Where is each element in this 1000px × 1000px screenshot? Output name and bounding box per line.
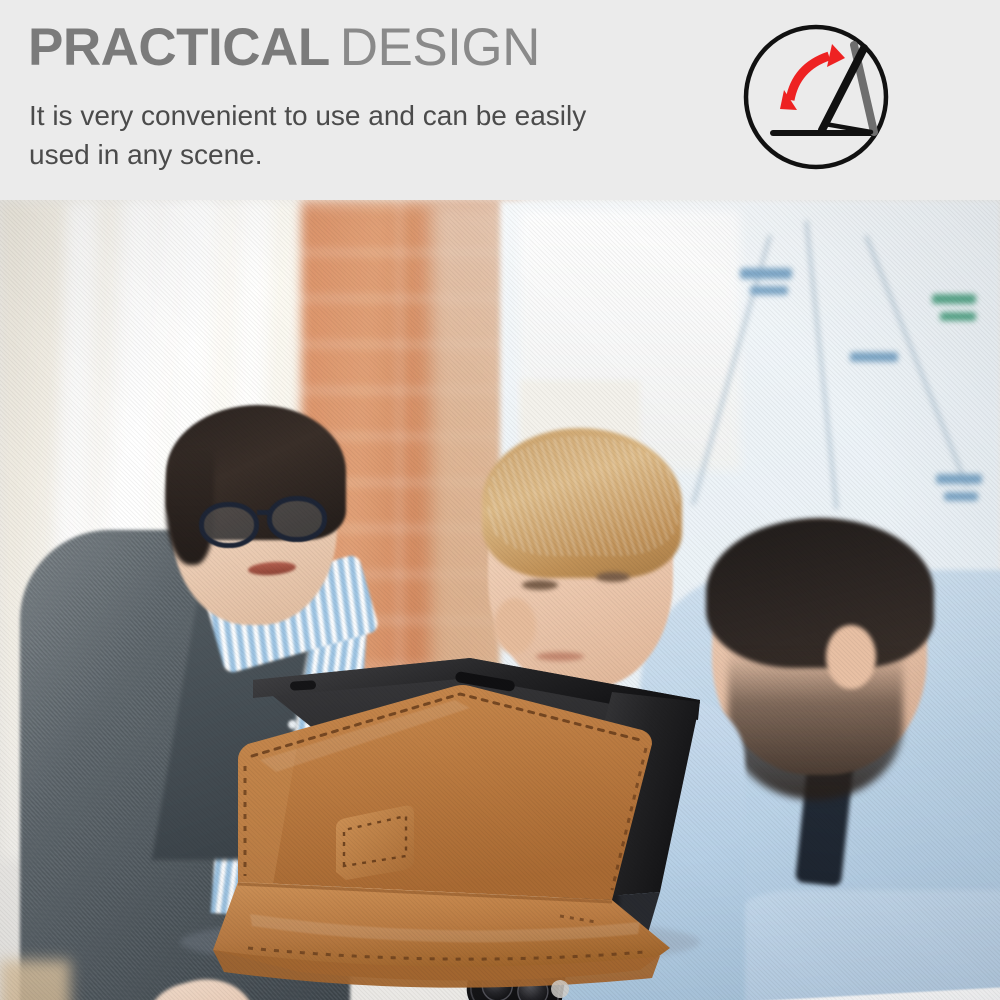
page-title: PRACTICALDESIGN <box>28 18 540 78</box>
lifestyle-photo <box>0 200 1000 1000</box>
adjustable-stand-angle-icon <box>733 14 899 180</box>
leather-wallet-phone-case <box>0 200 1000 1000</box>
case-rivet <box>551 980 569 998</box>
page-title-light: DESIGN <box>340 18 540 77</box>
header-band: PRACTICALDESIGN It is very convenient to… <box>0 0 1000 200</box>
product-marketing-banner: PRACTICALDESIGN It is very convenient to… <box>0 0 1000 1000</box>
page-subtitle: It is very convenient to use and can be … <box>29 96 629 174</box>
phone-side-button <box>290 680 316 690</box>
page-title-bold: PRACTICAL <box>28 18 330 77</box>
